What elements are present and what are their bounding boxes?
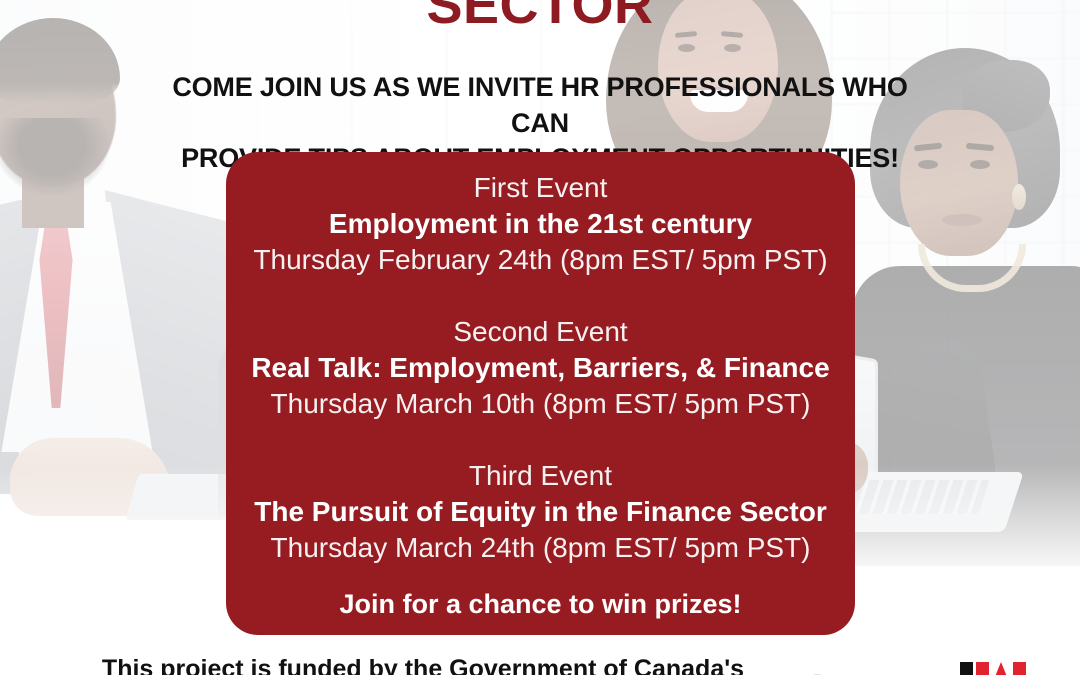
flag-bar-red-2: [1013, 662, 1026, 675]
event-block-third: Third Event The Pursuit of Equity in the…: [226, 458, 855, 567]
event-title: The Pursuit of Equity in the Finance Sec…: [226, 494, 855, 530]
event-block-first: First Event Employment in the 21st centu…: [226, 170, 855, 279]
prize-note: Join for a chance to win prizes!: [226, 589, 855, 620]
event-date: Thursday March 10th (8pm EST/ 5pm PST): [226, 386, 855, 422]
event-poster: SECTOR COME JOIN US AS WE INVITE HR PROF…: [0, 0, 1080, 675]
flag-triangle-red: [992, 662, 1010, 675]
event-title: Employment in the 21st century: [226, 206, 855, 242]
poster-title: SECTOR: [0, 0, 1080, 32]
canada-flag-logo: [960, 662, 1046, 675]
flag-bar-black: [960, 662, 973, 675]
funding-footer-text: This project is funded by the Government…: [78, 654, 768, 675]
event-block-second: Second Event Real Talk: Employment, Barr…: [226, 314, 855, 423]
event-label: Second Event: [226, 314, 855, 350]
subtitle-line-1: COME JOIN US AS WE INVITE HR PROFESSIONA…: [140, 70, 940, 141]
event-label: Third Event: [226, 458, 855, 494]
poster-content: SECTOR COME JOIN US AS WE INVITE HR PROF…: [0, 0, 1080, 675]
event-date: Thursday February 24th (8pm EST/ 5pm PST…: [226, 242, 855, 278]
event-date: Thursday March 24th (8pm EST/ 5pm PST): [226, 530, 855, 566]
event-title: Real Talk: Employment, Barriers, & Finan…: [226, 350, 855, 386]
events-card: First Event Employment in the 21st centu…: [226, 152, 855, 635]
event-label: First Event: [226, 170, 855, 206]
swoosh-logo: [782, 660, 848, 675]
flag-bar-red-1: [976, 662, 989, 675]
